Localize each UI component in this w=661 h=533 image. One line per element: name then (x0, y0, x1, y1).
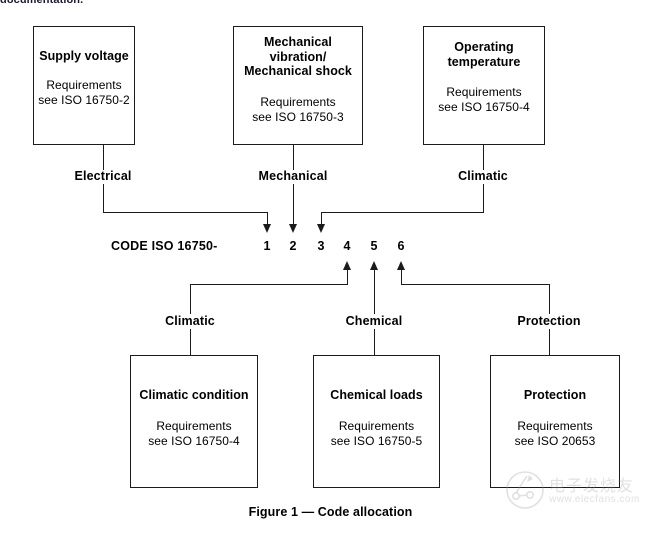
connector-mechanical-lower (293, 184, 294, 225)
connector-climatic-top-lower (483, 184, 484, 213)
node-box-chemical-loads: Chemical loads Requirements see ISO 1675… (313, 355, 440, 488)
connector-electrical-bus (103, 212, 268, 213)
branch-label-climatic-bottom: Climatic (165, 314, 215, 328)
connector-mechanical-upper (293, 145, 294, 170)
branch-label-electrical: Electrical (74, 169, 131, 183)
node-title: Protection (524, 388, 586, 403)
arrow-down-code-2 (289, 224, 297, 233)
node-title: Climatic condition (139, 388, 248, 403)
connector-climatic-top-bus (321, 212, 484, 213)
connector-protection-lower (549, 329, 550, 355)
code-digit-6: 6 (398, 239, 405, 253)
figure-code-allocation: documentation. Supply voltage Requiremen… (0, 0, 661, 533)
node-requirements: Requirements see ISO 16750-2 (38, 78, 129, 108)
connector-climatic-top-upper (483, 145, 484, 170)
code-digit-2: 2 (290, 239, 297, 253)
branch-label-mechanical: Mechanical (259, 169, 328, 183)
code-row-label: CODE ISO 16750- (111, 239, 218, 253)
node-box-protection: Protection Requirements see ISO 20653 (490, 355, 620, 488)
node-requirements: Requirements see ISO 16750-4 (438, 85, 529, 115)
node-requirements: Requirements see ISO 16750-3 (252, 95, 343, 125)
connector-electrical-upper (103, 145, 104, 170)
node-requirements: Requirements see ISO 16750-5 (331, 419, 422, 449)
branch-label-protection: Protection (517, 314, 580, 328)
watermark-url-text: www.elecfans.com (549, 494, 640, 505)
node-title: Mechanical vibration/ Mechanical shock (244, 35, 352, 79)
connector-protection-upper (549, 284, 550, 314)
branch-label-climatic-top: Climatic (458, 169, 508, 183)
figure-caption: Figure 1 — Code allocation (0, 505, 661, 519)
connector-climatic-bottom-upper (190, 284, 191, 314)
connector-climatic-bottom-rise (347, 269, 348, 285)
node-title: Operating temperature (448, 40, 521, 69)
node-box-climatic-condition: Climatic condition Requirements see ISO … (130, 355, 258, 488)
connector-chemical-lower (374, 329, 375, 355)
arrow-down-code-1 (263, 224, 271, 233)
code-digit-1: 1 (264, 239, 271, 253)
code-digit-5: 5 (371, 239, 378, 253)
arrow-down-code-3 (317, 224, 325, 233)
node-title: Chemical loads (330, 388, 422, 403)
code-digit-4: 4 (344, 239, 351, 253)
connector-electrical-lower (103, 184, 104, 213)
connector-climatic-bottom-bus (190, 284, 348, 285)
node-requirements: Requirements see ISO 20653 (515, 419, 596, 449)
node-box-supply-voltage: Supply voltage Requirements see ISO 1675… (33, 26, 135, 145)
node-box-mechanical-vibration-shock: Mechanical vibration/ Mechanical shock R… (233, 26, 363, 145)
connector-protection-bus (401, 284, 550, 285)
connector-chemical-rise (374, 269, 375, 314)
branch-label-chemical: Chemical (346, 314, 403, 328)
node-requirements: Requirements see ISO 16750-4 (148, 419, 239, 449)
code-digit-3: 3 (318, 239, 325, 253)
connector-protection-rise (401, 269, 402, 285)
node-title: Supply voltage (39, 49, 129, 64)
connector-climatic-bottom-lower (190, 329, 191, 355)
node-box-operating-temperature: Operating temperature Requirements see I… (423, 26, 545, 145)
cutoff-body-text: documentation. (0, 0, 83, 6)
